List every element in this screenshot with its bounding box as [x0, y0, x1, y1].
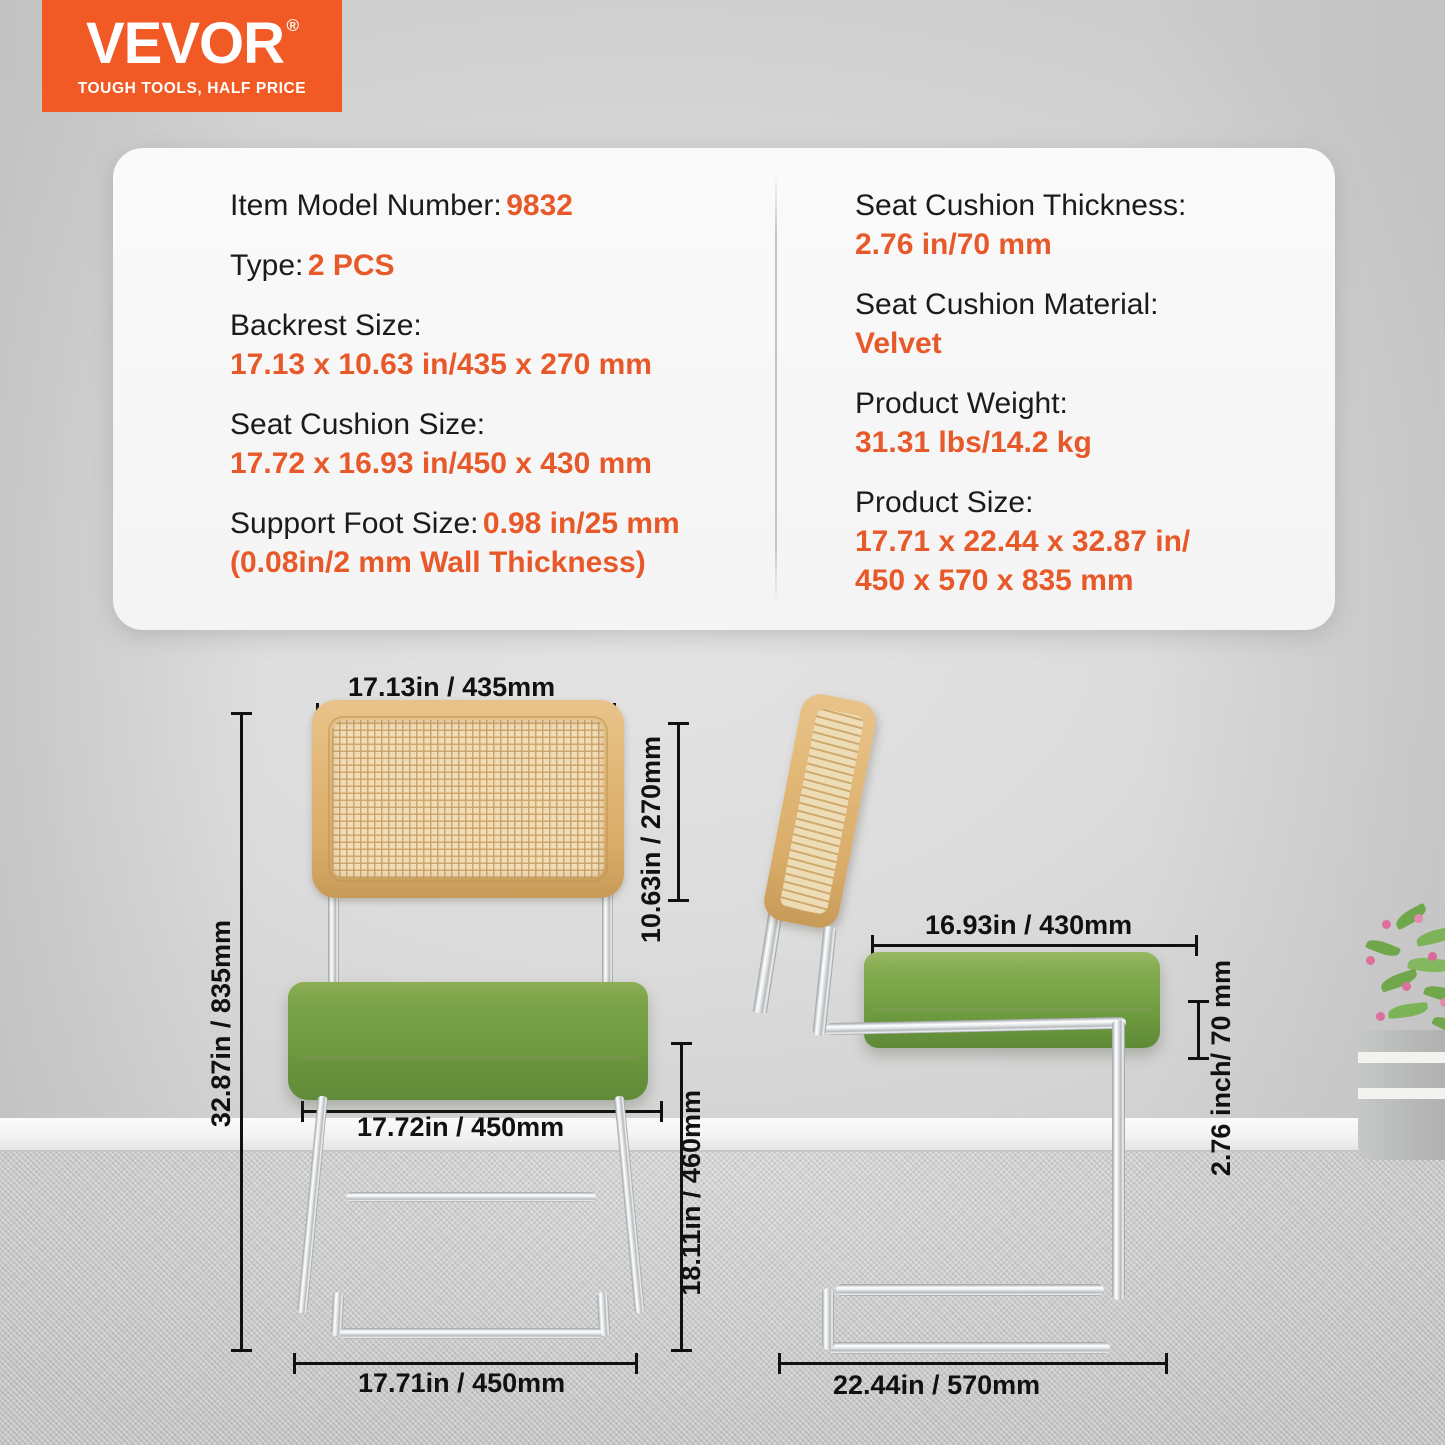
dim-front-backrest-height-label: 10.63in / 270mm: [636, 736, 667, 948]
spec-item-cushion-material: Seat Cushion Material: Velvet: [855, 285, 1335, 363]
chair-side-front-upright: [812, 926, 836, 1037]
spec-label: Item Model Number:: [230, 189, 502, 222]
dim-front-backrest-width-label: 17.13in / 435mm: [348, 672, 555, 703]
spec-item-backrest-size: Backrest Size: 17.13 x 10.63 in/435 x 27…: [230, 306, 783, 384]
spec-column-left: Item Model Number: 9832 Type: 2 PCS Back…: [113, 148, 783, 630]
dim-side-base-depth-label: 22.44in / 570mm: [833, 1370, 1040, 1401]
dim-side-cushion-thickness-label: 2.76 inch/ 70 mm: [1206, 960, 1237, 1181]
chair-side-view: [760, 690, 1180, 1362]
spec-label: Support Foot Size:: [230, 507, 478, 540]
spec-label: Backrest Size:: [230, 306, 783, 345]
spec-value: Velvet: [855, 324, 1335, 363]
spec-value: 2 PCS: [308, 249, 395, 282]
spec-value-secondary: (0.08in/2 mm Wall Thickness): [230, 543, 783, 582]
chair-front-rattan-border: [328, 716, 608, 882]
specification-card: Item Model Number: 9832 Type: 2 PCS Back…: [113, 148, 1335, 630]
chair-front-backrest-frame: [312, 700, 624, 898]
chair-side-cushion-piping: [872, 1008, 1152, 1011]
chair-front-seat-rail: [346, 1192, 596, 1202]
spec-item-seat-cushion-size: Seat Cushion Size: 17.72 x 16.93 in/450 …: [230, 405, 783, 483]
chair-side-base-front-curve: [822, 1288, 834, 1350]
chair-front-leg-left: [297, 1096, 328, 1314]
spec-value: 0.98 in/25 mm: [483, 507, 680, 540]
spec-label: Seat Cushion Size:: [230, 405, 783, 444]
chair-front-cushion-piping: [298, 1056, 638, 1059]
spec-column-right: Seat Cushion Thickness: 2.76 in/70 mm Se…: [783, 148, 1335, 630]
chair-side-cantilever-leg: [1112, 1020, 1125, 1300]
spec-value: 2.76 in/70 mm: [855, 225, 1335, 264]
spec-label: Seat Cushion Thickness:: [855, 186, 1335, 225]
dim-front-base-width-label: 17.71in / 450mm: [358, 1368, 565, 1399]
dim-side-base-depth-line: [778, 1362, 1168, 1365]
dim-side-cushion-thickness-line: [1197, 1000, 1200, 1060]
spec-value: 17.13 x 10.63 in/435 x 270 mm: [230, 345, 783, 384]
spec-item-product-weight: Product Weight: 31.31 lbs/14.2 kg: [855, 384, 1335, 462]
registered-trademark-icon: ®: [287, 17, 299, 34]
spec-value: 31.31 lbs/14.2 kg: [855, 423, 1335, 462]
chair-side-backrest-frame: [761, 691, 879, 931]
chair-side-base-rail-upper: [836, 1284, 1104, 1296]
spec-value-secondary: 450 x 570 x 835 mm: [855, 561, 1335, 600]
spec-label: Seat Cushion Material:: [855, 285, 1335, 324]
spec-item-model-number: Item Model Number: 9832: [230, 186, 783, 225]
dim-front-total-height-label: 32.87in / 835mm: [206, 920, 237, 1132]
chair-front-base-rail: [340, 1328, 602, 1339]
plant-pot: [1358, 1030, 1445, 1160]
dim-front-backrest-height-line: [677, 722, 680, 902]
spec-label: Product Size:: [855, 483, 1335, 522]
floor: [0, 1152, 1445, 1445]
card-divider: [775, 174, 777, 604]
spec-value: 17.71 x 22.44 x 32.87 in/: [855, 522, 1335, 561]
chair-front-view: [280, 700, 660, 1360]
vevor-logo: VEVOR® TOUGH TOOLS, HALF PRICE: [42, 0, 342, 112]
dim-side-seat-depth-label: 16.93in / 430mm: [925, 910, 1132, 941]
dim-front-seat-height-label: 18.11in / 460mm: [676, 1090, 707, 1301]
spec-label: Type:: [230, 249, 303, 282]
spec-value: 9832: [506, 189, 573, 222]
plant-foliage: [1336, 900, 1445, 1050]
brand-tagline: TOUGH TOOLS, HALF PRICE: [78, 80, 307, 98]
dim-front-base-width-line: [293, 1362, 638, 1365]
spec-label: Product Weight:: [855, 384, 1335, 423]
dim-front-total-height-line: [240, 712, 243, 1352]
spec-item-cushion-thickness: Seat Cushion Thickness: 2.76 in/70 mm: [855, 186, 1335, 264]
spec-item-type: Type: 2 PCS: [230, 246, 783, 285]
chair-front-leg-right: [614, 1096, 645, 1314]
spec-item-product-size: Product Size: 17.71 x 22.44 x 32.87 in/ …: [855, 483, 1335, 600]
brand-name: VEVOR®: [86, 15, 298, 73]
spec-item-support-foot-size: Support Foot Size: 0.98 in/25 mm (0.08in…: [230, 504, 783, 582]
chair-front-seat-cushion: [288, 982, 648, 1100]
chair-side-rattan-panel: [779, 708, 865, 915]
chair-side-base-rail-lower: [828, 1342, 1110, 1354]
spec-value: 17.72 x 16.93 in/450 x 430 mm: [230, 444, 783, 483]
dim-front-seat-width-label: 17.72in / 450mm: [357, 1112, 564, 1143]
